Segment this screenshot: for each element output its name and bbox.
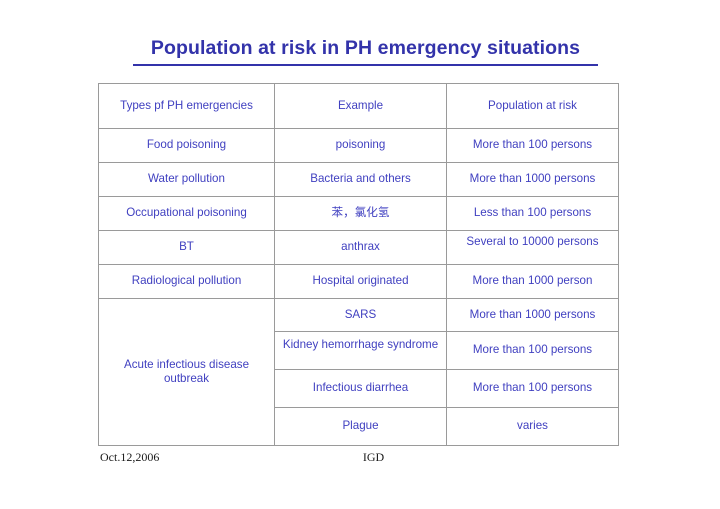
table-header-row: Types pf PH emergencies Example Populati… xyxy=(99,84,619,129)
cell-population-text: Several to 10000 persons xyxy=(451,235,614,249)
cell-example: Kidney hemorrhage syndrome xyxy=(275,332,447,370)
table-row: Occupational poisoning 苯，氯化氢 Less than 1… xyxy=(99,197,619,231)
population-at-risk-table: Types pf PH emergencies Example Populati… xyxy=(98,83,619,446)
cell-population: More than 1000 persons xyxy=(447,299,619,332)
cell-type: BT xyxy=(99,231,275,265)
cell-example: Bacteria and others xyxy=(275,163,447,197)
slide-canvas: Population at risk in PH emergency situa… xyxy=(0,0,720,509)
title-block: Population at risk in PH emergency situa… xyxy=(133,38,598,66)
table-row: Acute infectious disease outbreak SARS M… xyxy=(99,299,619,332)
cell-example-text: Kidney hemorrhage syndrome xyxy=(279,338,442,352)
cell-population: More than 1000 person xyxy=(447,265,619,299)
cell-type-grouped: Acute infectious disease outbreak xyxy=(99,299,275,446)
table-row: BT anthrax Several to 10000 persons xyxy=(99,231,619,265)
cell-population: Less than 100 persons xyxy=(447,197,619,231)
cell-type: Occupational poisoning xyxy=(99,197,275,231)
cell-example: Infectious diarrhea xyxy=(275,370,447,408)
table-row: Food poisoning poisoning More than 100 p… xyxy=(99,129,619,163)
cell-type: Food poisoning xyxy=(99,129,275,163)
footer-label: IGD xyxy=(98,450,591,465)
cell-population: More than 100 persons xyxy=(447,370,619,408)
cell-population: More than 100 persons xyxy=(447,332,619,370)
cell-population: varies xyxy=(447,408,619,446)
cell-population: More than 100 persons xyxy=(447,129,619,163)
table-row: Water pollution Bacteria and others More… xyxy=(99,163,619,197)
table-row: Radiological pollution Hospital originat… xyxy=(99,265,619,299)
title-underline xyxy=(133,64,598,66)
cell-example: SARS xyxy=(275,299,447,332)
cell-population: More than 1000 persons xyxy=(447,163,619,197)
cell-example: Plague xyxy=(275,408,447,446)
cell-population: Several to 10000 persons xyxy=(447,231,619,265)
page-title: Population at risk in PH emergency situa… xyxy=(133,38,598,59)
cell-example: anthrax xyxy=(275,231,447,265)
cell-type: Water pollution xyxy=(99,163,275,197)
column-header-population: Population at risk xyxy=(447,84,619,129)
cell-type: Radiological pollution xyxy=(99,265,275,299)
cell-example: poisoning xyxy=(275,129,447,163)
cell-example: Hospital originated xyxy=(275,265,447,299)
column-header-example: Example xyxy=(275,84,447,129)
cell-example: 苯，氯化氢 xyxy=(275,197,447,231)
column-header-type: Types pf PH emergencies xyxy=(99,84,275,129)
slide-footer: Oct.12,2006 IGD xyxy=(98,450,591,466)
